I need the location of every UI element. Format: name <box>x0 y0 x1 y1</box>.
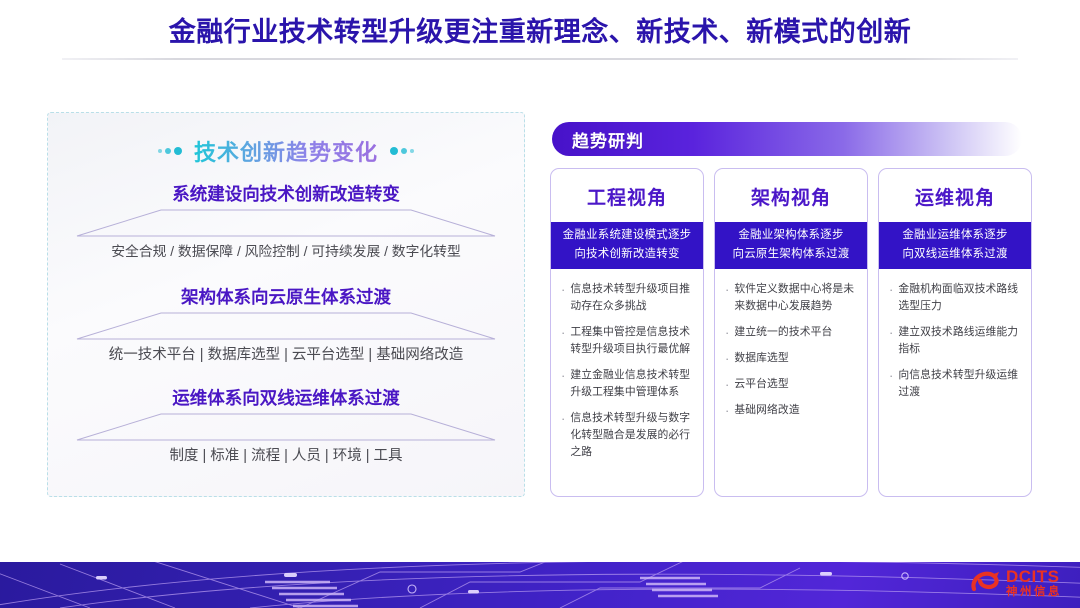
bullet-text: 建立双技术路线运维能力指标 <box>898 324 1022 358</box>
funnel-shape-icon-1 <box>71 209 501 239</box>
perspective-card-operations[interactable]: 运维视角 金融业运维体系逐步 向双线运维体系过渡 · 金融机构面临双技术路线选型… <box>878 168 1032 497</box>
bullet-text: 工程集中管控是信息技术转型升级项目执行最优解 <box>570 324 694 358</box>
bullet-text: 建立金融业信息技术转型升级工程集中管理体系 <box>570 367 694 401</box>
list-item: · 云平台选型 <box>723 376 858 393</box>
card-title-engineering: 工程视角 <box>551 169 703 222</box>
perspective-card-engineering[interactable]: 工程视角 金融业系统建设模式逐步 向技术创新改造转变 · 信息技术转型升级项目推… <box>550 168 704 497</box>
bullet-dot-icon: · <box>559 281 565 315</box>
list-item: · 建立统一的技术平台 <box>723 324 858 341</box>
bullet-text: 信息技术转型升级项目推动存在众多挑战 <box>570 281 694 315</box>
bullet-dot-icon: · <box>723 350 729 367</box>
footer-banner: DCITS 神州信息 <box>0 562 1080 608</box>
list-item: · 数据库选型 <box>723 350 858 367</box>
list-item: · 建立金融业信息技术转型升级工程集中管理体系 <box>559 367 694 401</box>
trend-block-2: 架构体系向云原生体系过渡 统一技术平台 | 数据库选型 | 云平台选型 | 基础… <box>60 284 512 367</box>
card-summary-line2: 向双线运维体系过渡 <box>883 245 1027 264</box>
trend-change-panel: 技术创新趋势变化 系统建设向技术创新改造转变 安全合规 / 数据保障 / 风险控… <box>47 112 525 497</box>
trend-change-heading: 技术创新趋势变化 <box>60 135 512 167</box>
dcits-swirl-icon <box>971 570 1001 596</box>
card-title-operations: 运维视角 <box>879 169 1031 222</box>
page-title: 金融行业技术转型升级更注重新理念、新技术、新模式的创新 <box>0 14 1080 50</box>
decorative-dots-right-icon <box>390 147 414 155</box>
trend-judgement-banner-label: 趋势研判 <box>572 127 644 152</box>
card-body-engineering: · 信息技术转型升级项目推动存在众多挑战 · 工程集中管控是信息技术转型升级项目… <box>551 269 703 496</box>
card-summary-engineering: 金融业系统建设模式逐步 向技术创新改造转变 <box>551 222 703 269</box>
list-item: · 建立双技术路线运维能力指标 <box>887 324 1022 358</box>
bullet-dot-icon: · <box>559 324 565 358</box>
list-item: · 金融机构面临双技术路线选型压力 <box>887 281 1022 315</box>
trend-title-3: 运维体系向双线运维体系过渡 <box>60 385 512 411</box>
trend-sub-1: 安全合规 / 数据保障 / 风险控制 / 可持续发展 / 数字化转型 <box>60 240 512 264</box>
funnel-shape-icon-3 <box>71 413 501 443</box>
slide-root: 金融行业技术转型升级更注重新理念、新技术、新模式的创新 技术创新趋势变化 系统建… <box>0 0 1080 608</box>
company-logo: DCITS 神州信息 <box>971 568 1062 599</box>
bullet-dot-icon: · <box>723 376 729 393</box>
trend-judgement-banner: 趋势研判 <box>552 122 1022 156</box>
circuit-decoration-icon <box>0 562 1080 608</box>
card-body-operations: · 金融机构面临双技术路线选型压力 · 建立双技术路线运维能力指标 · 向信息技… <box>879 269 1031 496</box>
perspective-cards: 工程视角 金融业系统建设模式逐步 向技术创新改造转变 · 信息技术转型升级项目推… <box>550 168 1032 497</box>
card-body-architecture: · 软件定义数据中心将是未来数据中心发展趋势 · 建立统一的技术平台 · 数据库… <box>715 269 867 496</box>
bullet-text: 信息技术转型升级与数字化转型融合是发展的必行之路 <box>570 410 694 461</box>
card-summary-line1: 金融业架构体系逐步 <box>738 229 843 241</box>
funnel-shape-icon-2 <box>71 312 501 342</box>
card-summary-operations: 金融业运维体系逐步 向双线运维体系过渡 <box>879 222 1031 269</box>
list-item: · 向信息技术转型升级运维过渡 <box>887 367 1022 401</box>
page-title-wrap: 金融行业技术转型升级更注重新理念、新技术、新模式的创新 <box>0 14 1080 50</box>
list-item: · 信息技术转型升级与数字化转型融合是发展的必行之路 <box>559 410 694 461</box>
trend-change-heading-label: 技术创新趋势变化 <box>194 135 378 167</box>
bullet-text: 向信息技术转型升级运维过渡 <box>898 367 1022 401</box>
bullet-dot-icon: · <box>559 410 565 461</box>
trend-block-1: 系统建设向技术创新改造转变 安全合规 / 数据保障 / 风险控制 / 可持续发展… <box>60 181 512 264</box>
list-item: · 信息技术转型升级项目推动存在众多挑战 <box>559 281 694 315</box>
logo-text: DCITS 神州信息 <box>1006 568 1062 599</box>
title-divider <box>62 58 1018 60</box>
decorative-dots-left-icon <box>158 147 182 155</box>
bullet-text: 基础网络改造 <box>734 402 799 419</box>
trend-sub-2: 统一技术平台 | 数据库选型 | 云平台选型 | 基础网络改造 <box>60 343 512 367</box>
card-summary-line1: 金融业系统建设模式逐步 <box>563 229 692 241</box>
trend-block-3: 运维体系向双线运维体系过渡 制度 | 标准 | 流程 | 人员 | 环境 | 工… <box>60 385 512 468</box>
bullet-text: 金融机构面临双技术路线选型压力 <box>898 281 1022 315</box>
trend-title-1: 系统建设向技术创新改造转变 <box>60 181 512 207</box>
card-title-architecture: 架构视角 <box>715 169 867 222</box>
bullet-text: 数据库选型 <box>734 350 788 367</box>
bullet-dot-icon: · <box>887 367 893 401</box>
card-summary-architecture: 金融业架构体系逐步 向云原生架构体系过渡 <box>715 222 867 269</box>
perspective-card-architecture[interactable]: 架构视角 金融业架构体系逐步 向云原生架构体系过渡 · 软件定义数据中心将是未来… <box>714 168 868 497</box>
spacer-1 <box>60 268 512 284</box>
card-summary-line2: 向云原生架构体系过渡 <box>719 245 863 264</box>
bullet-dot-icon: · <box>559 367 565 401</box>
bullet-text: 软件定义数据中心将是未来数据中心发展趋势 <box>734 281 858 315</box>
card-summary-line2: 向技术创新改造转变 <box>555 245 699 264</box>
bullet-text: 云平台选型 <box>734 376 788 393</box>
logo-en-label: DCITS <box>1006 568 1062 585</box>
card-summary-line1: 金融业运维体系逐步 <box>902 229 1007 241</box>
list-item: · 基础网络改造 <box>723 402 858 419</box>
bullet-text: 建立统一的技术平台 <box>734 324 832 341</box>
bullet-dot-icon: · <box>723 281 729 315</box>
trend-title-2: 架构体系向云原生体系过渡 <box>60 284 512 310</box>
bullet-dot-icon: · <box>887 324 893 358</box>
bullet-dot-icon: · <box>723 402 729 419</box>
trend-sub-3: 制度 | 标准 | 流程 | 人员 | 环境 | 工具 <box>60 444 512 468</box>
spacer-2 <box>60 371 512 385</box>
bullet-dot-icon: · <box>723 324 729 341</box>
list-item: · 工程集中管控是信息技术转型升级项目执行最优解 <box>559 324 694 358</box>
list-item: · 软件定义数据中心将是未来数据中心发展趋势 <box>723 281 858 315</box>
logo-cn-label: 神州信息 <box>1006 587 1062 599</box>
bullet-dot-icon: · <box>887 281 893 315</box>
